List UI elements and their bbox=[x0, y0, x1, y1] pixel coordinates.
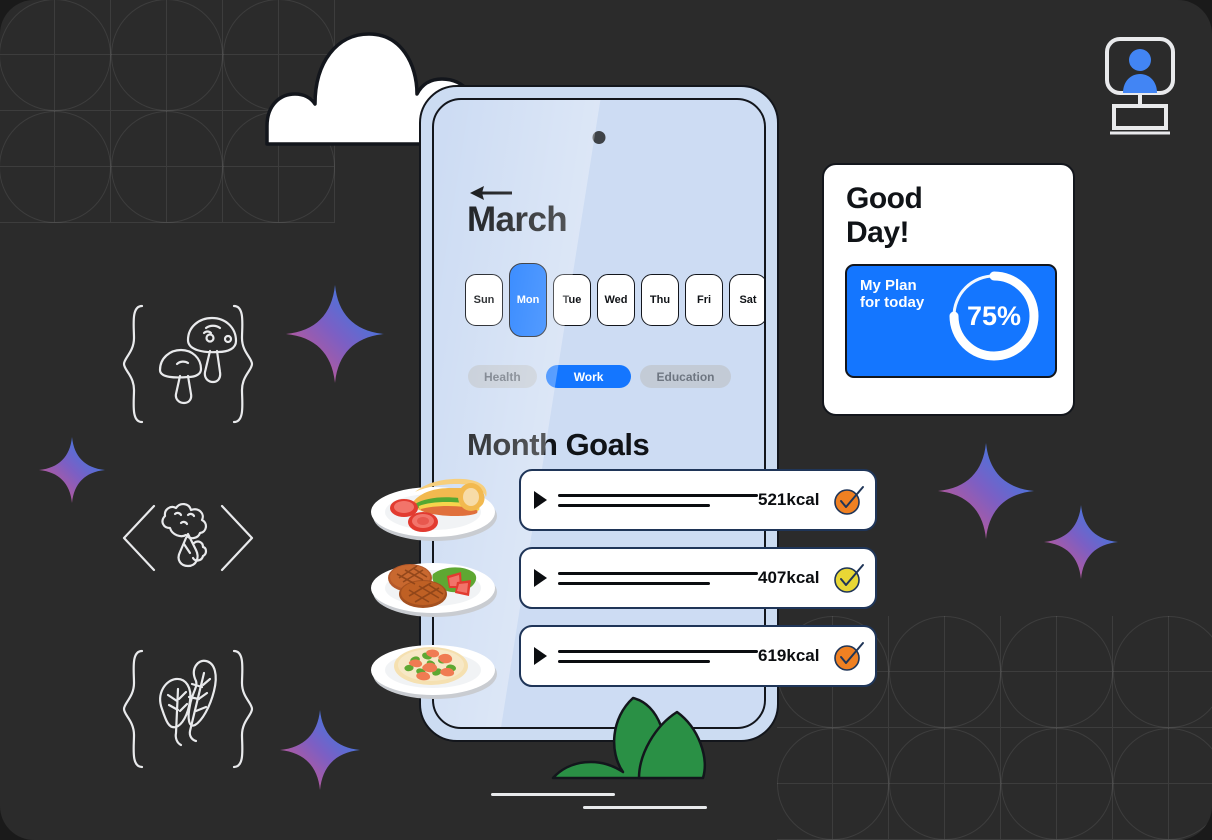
chip-work[interactable]: Work bbox=[546, 365, 632, 388]
check-circle-icon[interactable] bbox=[833, 484, 865, 516]
day-pill-sat[interactable]: Sat bbox=[729, 274, 766, 326]
good-day-card: Good Day! My Plan for today 75% bbox=[822, 163, 1075, 416]
page-title: March bbox=[467, 200, 567, 240]
goal-calories: 407kcal bbox=[758, 568, 819, 588]
poster-canvas: March Sun Mon Tue Wed Thu Fri Sat Health… bbox=[0, 0, 1212, 840]
category-filter[interactable]: Health Work Education bbox=[468, 365, 731, 388]
play-icon[interactable] bbox=[534, 647, 547, 665]
chip-health[interactable]: Health bbox=[468, 365, 537, 388]
pasta-plate-icon bbox=[365, 618, 501, 704]
goal-row[interactable]: 521kcal bbox=[519, 469, 877, 531]
day-pill-mon[interactable]: Mon bbox=[509, 263, 547, 337]
goal-calories: 619kcal bbox=[758, 646, 819, 666]
my-plan-tile[interactable]: My Plan for today 75% bbox=[845, 264, 1057, 378]
sparkle-star-icon bbox=[938, 443, 1034, 539]
monitor-user-icon bbox=[1104, 36, 1176, 136]
sparkle-star-icon bbox=[286, 285, 384, 383]
my-plan-label: My Plan for today bbox=[860, 277, 924, 312]
check-circle-icon[interactable] bbox=[833, 562, 865, 594]
goal-calories: 521kcal bbox=[758, 490, 819, 510]
day-pill-thu[interactable]: Thu bbox=[641, 274, 679, 326]
decorative-line bbox=[583, 806, 707, 809]
good-day-title: Good Day! bbox=[846, 182, 1053, 250]
mushroom-shape bbox=[160, 318, 236, 403]
spinach-glyph bbox=[118, 645, 258, 773]
month-goals-list: 521kcal 407kcal bbox=[519, 469, 877, 703]
day-pill-wed[interactable]: Wed bbox=[597, 274, 635, 326]
goal-row[interactable]: 619kcal bbox=[519, 625, 877, 687]
day-pill-sun[interactable]: Sun bbox=[465, 274, 503, 326]
goal-text-placeholder bbox=[558, 572, 758, 585]
broccoli-shape bbox=[163, 504, 206, 566]
camera-dot bbox=[593, 131, 606, 144]
day-pill-fri[interactable]: Fri bbox=[685, 274, 723, 326]
sandwich-plate-icon bbox=[365, 458, 501, 544]
day-selector[interactable]: Sun Mon Tue Wed Thu Fri Sat bbox=[465, 263, 766, 337]
chip-education[interactable]: Education bbox=[640, 365, 730, 388]
progress-value: 75% bbox=[938, 260, 1050, 372]
decorative-line bbox=[491, 793, 615, 796]
sparkle-star-icon bbox=[39, 437, 105, 503]
goal-text-placeholder bbox=[558, 650, 758, 663]
sparkle-star-icon bbox=[1044, 505, 1118, 579]
check-circle-icon[interactable] bbox=[833, 640, 865, 672]
mushroom-glyph bbox=[118, 300, 258, 428]
play-icon[interactable] bbox=[534, 491, 547, 509]
spinach-leaf-shape bbox=[160, 661, 216, 745]
steak-plate-icon bbox=[365, 538, 501, 622]
sparkle-star-icon bbox=[280, 710, 360, 790]
broccoli-glyph bbox=[118, 490, 258, 590]
leaf-bush-icon bbox=[551, 690, 747, 785]
play-icon[interactable] bbox=[534, 569, 547, 587]
goal-row[interactable]: 407kcal bbox=[519, 547, 877, 609]
day-pill-tue[interactable]: Tue bbox=[553, 274, 591, 326]
goal-text-placeholder bbox=[558, 494, 758, 507]
